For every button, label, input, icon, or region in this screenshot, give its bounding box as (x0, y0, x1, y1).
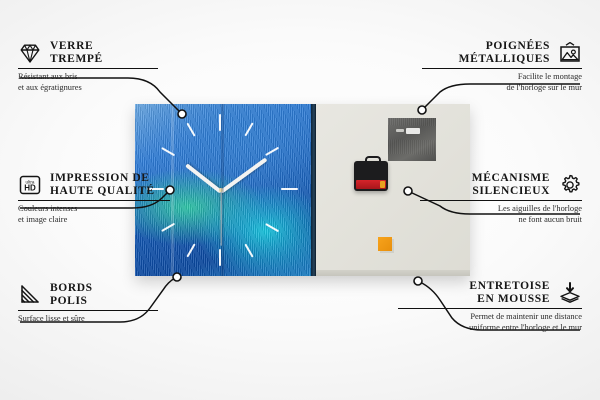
callout-spacer-sub-1: Permet de maintenir une distance (398, 312, 582, 323)
callout-print-title-1: IMPRESSION DE (50, 172, 155, 185)
callout-spacer-title-1: ENTRETOISE (469, 280, 550, 293)
callout-print-title-2: HAUTE QUALITÉ (50, 185, 155, 198)
callout-edges-head: BORDS POLIS (18, 282, 178, 307)
foam-spacer-icon (558, 281, 582, 305)
callout-spacer-head: ENTRETOISE EN MOUSSE (398, 280, 582, 305)
callout-glass: VERRE TREMPÉ Résistant aux bris et aux é… (18, 40, 178, 93)
callout-glass-sub-2: et aux égratignures (18, 83, 178, 94)
callout-edges: BORDS POLIS Surface lisse et sûre (18, 282, 178, 325)
callout-handles-sub-1: Facilite le montage (422, 72, 582, 83)
callout-edges-title-1: BORDS (50, 282, 93, 295)
callout-mechanism-title-1: MÉCANISME (472, 172, 550, 185)
callout-handles-sub-2: de l'horloge sur le mur (422, 83, 582, 94)
callout-edges-sub-1: Surface lisse et sûre (18, 314, 178, 325)
callout-print-head: ultra HD IMPRESSION DE HAUTE QUALITÉ (18, 172, 193, 197)
callout-print-sub-2: et image claire (18, 215, 193, 226)
callout-handles-rule (422, 68, 582, 69)
connector-dot-edges (173, 273, 181, 281)
connector-dot-glass (178, 110, 186, 118)
polished-edge-icon (18, 283, 42, 307)
callout-edges-rule (18, 310, 158, 311)
callout-edges-title-2: POLIS (50, 295, 93, 308)
callout-spacer-rule (398, 308, 582, 309)
callout-print-sub-1: Couleurs intenses (18, 204, 193, 215)
callout-glass-title-2: TREMPÉ (50, 53, 103, 66)
callout-glass-rule (18, 68, 158, 69)
callout-glass-title-1: VERRE (50, 40, 103, 53)
callout-mechanism-rule (420, 200, 582, 201)
connector-dot-mechanism (404, 187, 412, 195)
callout-print-rule (18, 200, 170, 201)
callout-glass-sub-1: Résistant aux bris (18, 72, 178, 83)
callout-mechanism-sub-2: ne font aucun bruit (420, 215, 582, 226)
callout-mechanism-head: MÉCANISME SILENCIEUX (420, 172, 582, 197)
ultra-hd-icon: ultra HD (18, 173, 42, 197)
callout-mechanism-sub-1: Les aiguilles de l'horloge (420, 204, 582, 215)
callout-spacer-sub-2: uniforme entre l'horloge et le mur (398, 323, 582, 334)
svg-text:HD: HD (24, 183, 36, 192)
callout-glass-head: VERRE TREMPÉ (18, 40, 178, 65)
callout-spacer: ENTRETOISE EN MOUSSE Permet de maintenir… (398, 280, 582, 333)
callout-print: ultra HD IMPRESSION DE HAUTE QUALITÉ Cou… (18, 172, 193, 225)
diamond-icon (18, 41, 42, 65)
callout-mechanism-title-2: SILENCIEUX (472, 185, 550, 198)
gear-icon (558, 173, 582, 197)
callout-handles: POIGNÉES MÉTALLIQUES Facilite le montage… (422, 40, 582, 93)
callout-handles-title-1: POIGNÉES (459, 40, 550, 53)
callout-handles-head: POIGNÉES MÉTALLIQUES (422, 40, 582, 65)
infographic-canvas: VERRE TREMPÉ Résistant aux bris et aux é… (0, 0, 600, 400)
callout-mechanism: MÉCANISME SILENCIEUX Les aiguilles de l'… (420, 172, 582, 225)
callout-handles-title-2: MÉTALLIQUES (459, 53, 550, 66)
callout-spacer-title-2: EN MOUSSE (469, 293, 550, 306)
connector-dot-handles (418, 106, 426, 114)
picture-hanger-icon (558, 41, 582, 65)
